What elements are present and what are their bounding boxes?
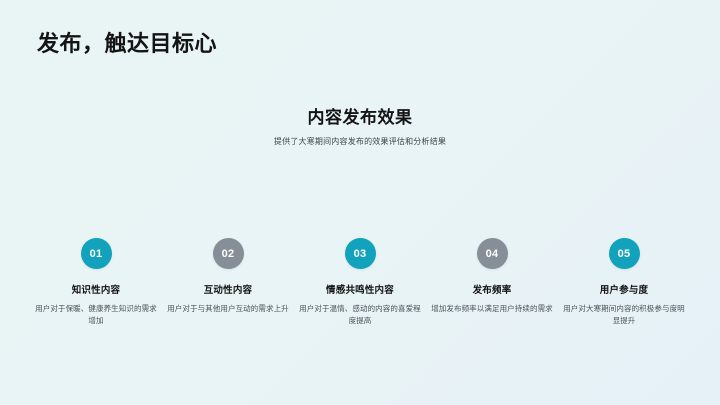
item-description: 用户对于温情、感动的内容的喜爱程度提高 xyxy=(299,303,421,326)
item-number-badge: 03 xyxy=(345,238,376,269)
item-description: 用户对于保暖、健康养生知识的需求增加 xyxy=(35,303,157,326)
section-heading-block: 内容发布效果 提供了大寒期间内容发布的效果评估和分析结果 xyxy=(0,107,720,148)
item-number-badge: 05 xyxy=(609,238,640,269)
list-item[interactable]: 03 情感共鸣性内容 用户对于温情、感动的内容的喜爱程度提高 xyxy=(294,238,426,326)
item-description: 用户对大寒期间内容的积极参与度明显提升 xyxy=(563,303,685,326)
item-title: 发布频率 xyxy=(473,284,512,297)
list-item[interactable]: 01 知识性内容 用户对于保暖、健康养生知识的需求增加 xyxy=(30,238,162,326)
item-number-badge: 01 xyxy=(81,238,112,269)
section-heading-subtitle: 提供了大寒期间内容发布的效果评估和分析结果 xyxy=(0,136,720,148)
item-title: 用户参与度 xyxy=(600,284,649,297)
item-title: 互动性内容 xyxy=(204,284,253,297)
section-heading-title: 内容发布效果 xyxy=(0,107,720,129)
page-title: 发布，触达目标心 xyxy=(37,26,217,58)
item-number-badge: 02 xyxy=(213,238,244,269)
item-description: 增加发布频率以满足用户持续的需求 xyxy=(431,303,553,315)
list-item[interactable]: 05 用户参与度 用户对大寒期间内容的积极参与度明显提升 xyxy=(558,238,690,326)
item-title: 知识性内容 xyxy=(72,284,121,297)
item-number-badge: 04 xyxy=(477,238,508,269)
item-description: 用户对于与其他用户互动的需求上升 xyxy=(167,303,289,315)
items-row: 01 知识性内容 用户对于保暖、健康养生知识的需求增加 02 互动性内容 用户对… xyxy=(30,238,690,326)
item-title: 情感共鸣性内容 xyxy=(326,284,394,297)
list-item[interactable]: 02 互动性内容 用户对于与其他用户互动的需求上升 xyxy=(162,238,294,315)
list-item[interactable]: 04 发布频率 增加发布频率以满足用户持续的需求 xyxy=(426,238,558,315)
slide-canvas: 发布，触达目标心 内容发布效果 提供了大寒期间内容发布的效果评估和分析结果 01… xyxy=(0,0,720,405)
